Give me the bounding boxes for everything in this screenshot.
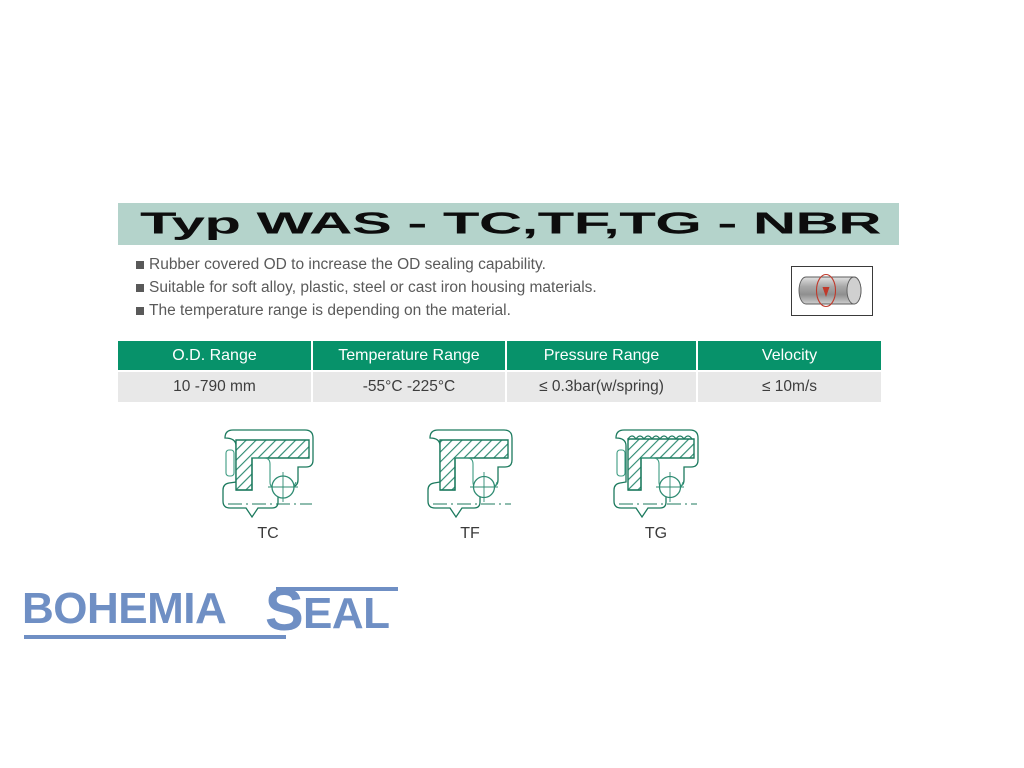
- specification-table: O.D. Range Temperature Range Pressure Ra…: [118, 341, 881, 402]
- bohemia-seal-logo: BOHEMIA S EAL: [18, 578, 418, 650]
- feature-list: Rubber covered OD to increase the OD sea…: [136, 255, 776, 324]
- list-item-label: The temperature range is depending on th…: [149, 301, 511, 321]
- seal-diagram-tf: TF: [418, 424, 522, 554]
- list-item: Suitable for soft alloy, plastic, steel …: [136, 278, 776, 298]
- square-bullet-icon: [136, 307, 144, 315]
- list-item-label: Rubber covered OD to increase the OD sea…: [149, 255, 546, 275]
- column-header-temperature-range: Temperature Range: [312, 341, 506, 371]
- logo-secondary-text: EAL: [303, 589, 390, 638]
- seal-label-tf: TF: [418, 525, 522, 543]
- seal-cross-section-tg-icon: [604, 424, 708, 524]
- rotating-shaft-icon-box: [791, 266, 873, 316]
- square-bullet-icon: [136, 284, 144, 292]
- seal-label-tg: TG: [604, 525, 708, 543]
- column-header-pressure-range: Pressure Range: [506, 341, 697, 371]
- list-item-label: Suitable for soft alloy, plastic, steel …: [149, 278, 597, 298]
- column-header-velocity: Velocity: [697, 341, 881, 371]
- list-item: The temperature range is depending on th…: [136, 301, 776, 321]
- cell-velocity-value: ≤ 10m/s: [697, 371, 881, 402]
- column-header-od-range: O.D. Range: [118, 341, 312, 371]
- cell-od-range-value: 10 -790 mm: [118, 371, 312, 402]
- square-bullet-icon: [136, 261, 144, 269]
- table-header-row: O.D. Range Temperature Range Pressure Ra…: [118, 341, 881, 371]
- seal-diagram-tc: TC: [212, 424, 324, 554]
- page-title: Typ WAS - TC,TF,TG - NBR: [140, 205, 881, 241]
- seal-label-tc: TC: [212, 525, 324, 543]
- table-row: 10 -790 mm -55°C -225°C ≤ 0.3bar(w/sprin…: [118, 371, 881, 402]
- list-item: Rubber covered OD to increase the OD sea…: [136, 255, 776, 275]
- rotating-shaft-icon: [792, 267, 871, 314]
- seal-cross-section-tc-icon: [212, 424, 324, 524]
- cell-temperature-range-value: -55°C -225°C: [312, 371, 506, 402]
- title-banner: Typ WAS - TC,TF,TG - NBR: [118, 203, 899, 245]
- logo-primary-text: BOHEMIA: [22, 584, 226, 633]
- cell-pressure-range-value: ≤ 0.3bar(w/spring): [506, 371, 697, 402]
- seal-cross-section-tf-icon: [418, 424, 522, 524]
- logo-icon: BOHEMIA S EAL: [18, 578, 418, 650]
- seal-diagram-tg: TG: [604, 424, 708, 554]
